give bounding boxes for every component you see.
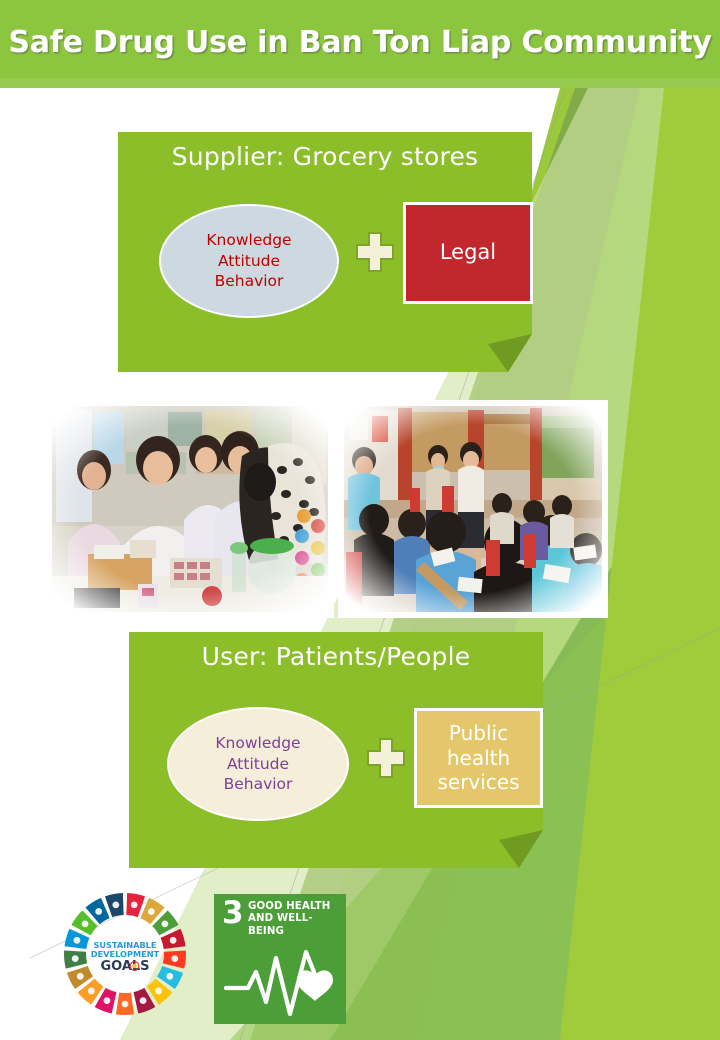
sdg-wheel-segment-icon xyxy=(131,901,138,908)
sdg-wheel-segment-icon xyxy=(74,937,81,944)
page-title: Safe Drug Use in Ban Ton Liap Community xyxy=(0,0,720,78)
sdg-wheel-segment-icon xyxy=(122,1001,129,1008)
sdg-wheel-segment-icon xyxy=(88,988,95,995)
sdg-goal-label-line-2: AND WELL-BEING xyxy=(248,913,346,938)
user-kab-line-1: Knowledge xyxy=(215,733,300,753)
sdg-wheel-segment-icon xyxy=(112,901,119,908)
sdg-goal-label: GOOD HEALTH AND WELL-BEING xyxy=(248,901,346,938)
sdg-wheel-segment-icon xyxy=(82,920,89,927)
supplier-card-title: Supplier: Grocery stores xyxy=(118,142,532,171)
photo-grocery-store-visit xyxy=(46,400,334,618)
supplier-kab-line-3: Behavior xyxy=(215,271,284,291)
sdg-wheel-segment-icon xyxy=(104,997,111,1004)
sdg-wheel-segment-icon xyxy=(162,920,169,927)
sdg-wheel-logo: SUSTAINABLE DEVELOPMENT GOALS xyxy=(62,890,188,1018)
poster-canvas: Safe Drug Use in Ban Ton Liap Community … xyxy=(0,0,720,1040)
sdg-goal-label-line-1: GOOD HEALTH xyxy=(248,901,346,913)
supplier-kab-line-1: Knowledge xyxy=(206,230,291,250)
supplier-legal-box: Legal xyxy=(403,202,533,304)
user-card: User: Patients/People Knowledge Attitude… xyxy=(129,632,543,868)
supplier-kab-line-2: Attitude xyxy=(218,251,280,271)
sdg-wheel-segment-icon xyxy=(166,973,173,980)
sdg-wheel-center-line-3: GOALS xyxy=(100,959,149,974)
supplier-kab-ellipse: Knowledge Attitude Behavior xyxy=(159,204,339,318)
plus-icon xyxy=(355,231,395,273)
sdg-wheel-center-line-2: DEVELOPMENT xyxy=(91,949,160,959)
sdg-wheel-segment-icon xyxy=(77,973,84,980)
user-public-health-label: Public health services xyxy=(417,721,540,794)
photo-community-meeting xyxy=(338,400,608,618)
header-accent-band xyxy=(0,78,720,88)
sdg-goal-number: 3 xyxy=(222,898,244,929)
poster-header: Safe Drug Use in Ban Ton Liap Community xyxy=(0,0,720,88)
sdg-wheel-segment-icon xyxy=(72,955,79,962)
sdg-goal-3-tile: 3 GOOD HEALTH AND WELL-BEING xyxy=(214,894,346,1024)
supplier-legal-label: Legal xyxy=(440,240,496,266)
sdg-wheel-segment-icon xyxy=(140,997,147,1004)
sdg-wheel-segment-icon xyxy=(155,988,162,995)
sdg-wheel-segment-icon xyxy=(148,908,155,915)
supplier-card: Supplier: Grocery stores Knowledge Attit… xyxy=(118,132,532,372)
heartbeat-icon xyxy=(214,940,346,1020)
sdg-wheel-segment-icon xyxy=(170,937,177,944)
sdg-wheel-segment-icon xyxy=(171,955,178,962)
user-kab-ellipse: Knowledge Attitude Behavior xyxy=(167,707,349,821)
user-public-health-box: Public health services xyxy=(414,708,543,808)
sdg-wheel-segment-icon xyxy=(95,908,102,915)
user-kab-line-3: Behavior xyxy=(224,774,293,794)
user-card-title: User: Patients/People xyxy=(129,642,543,671)
plus-icon xyxy=(366,737,406,779)
user-kab-line-2: Attitude xyxy=(227,754,289,774)
